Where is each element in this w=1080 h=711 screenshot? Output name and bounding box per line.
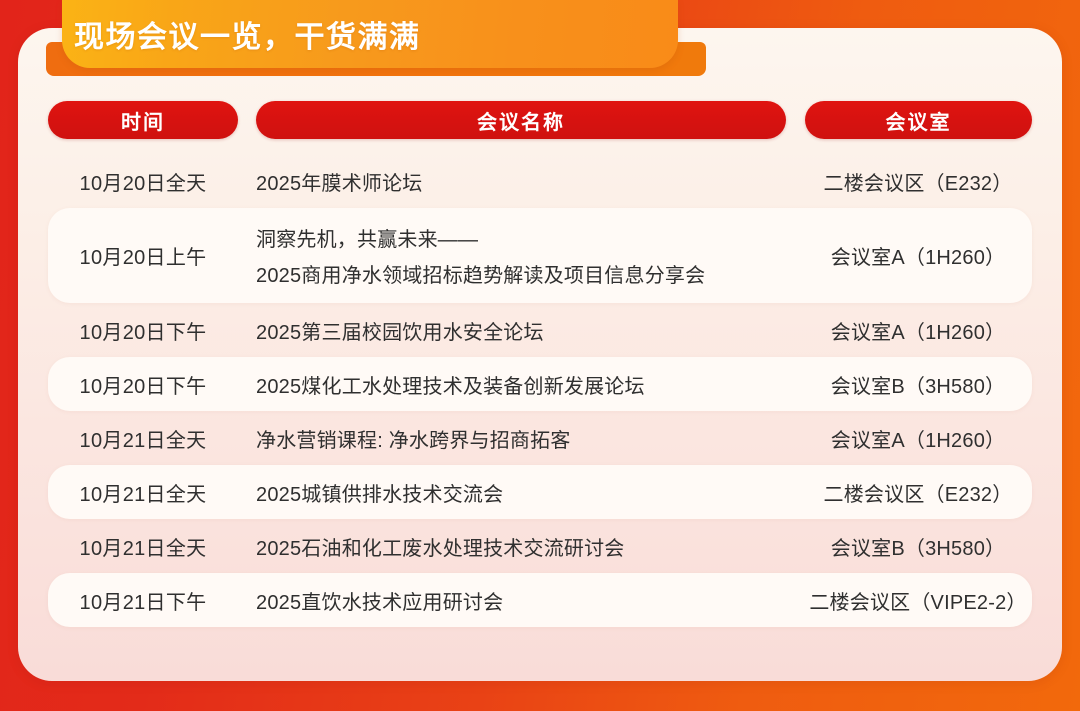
meeting-name-line-1: 2025年膜术师论坛 (256, 167, 804, 196)
cell-room: 二楼会议区（E232） (804, 478, 1032, 507)
column-header-room: 会议室 (805, 101, 1032, 139)
cell-time: 10月20日下午 (48, 316, 238, 345)
table-row: 10月20日上午洞察先机，共赢未来——2025商用净水领域招标趋势解读及项目信息… (48, 208, 1032, 303)
cell-room: 会议室B（3H580） (804, 370, 1032, 399)
table-row: 10月21日全天2025城镇供排水技术交流会二楼会议区（E232） (48, 465, 1032, 519)
cell-time: 10月21日全天 (48, 424, 238, 453)
cell-room: 二楼会议区（VIPE2-2） (804, 586, 1032, 615)
cell-meeting-name: 2025城镇供排水技术交流会 (256, 478, 804, 507)
cell-room: 会议室A（1H260） (804, 316, 1032, 345)
meeting-name-line-1: 2025城镇供排水技术交流会 (256, 478, 804, 507)
meeting-name-line-1: 2025石油和化工废水处理技术交流研讨会 (256, 532, 804, 561)
poster-page: 现场会议一览，干货满满 时间 会议名称 会议室 10月20日全天2025年膜术师… (0, 0, 1080, 711)
meeting-name-line-1: 2025直饮水技术应用研讨会 (256, 586, 804, 615)
schedule-table-body: 10月20日全天2025年膜术师论坛二楼会议区（E232）10月20日上午洞察先… (48, 154, 1032, 627)
table-header-row: 时间 会议名称 会议室 (48, 101, 1032, 139)
cell-meeting-name: 2025第三届校园饮用水安全论坛 (256, 316, 804, 345)
cell-time: 10月20日上午 (48, 241, 238, 270)
meeting-name-line-1: 2025第三届校园饮用水安全论坛 (256, 316, 804, 345)
meeting-name-line-1: 2025煤化工水处理技术及装备创新发展论坛 (256, 370, 804, 399)
table-row: 10月20日全天2025年膜术师论坛二楼会议区（E232） (48, 154, 1032, 208)
cell-room: 会议室B（3H580） (804, 532, 1032, 561)
cell-meeting-name: 2025年膜术师论坛 (256, 167, 804, 196)
cell-time: 10月20日下午 (48, 370, 238, 399)
cell-meeting-name: 2025石油和化工废水处理技术交流研讨会 (256, 532, 804, 561)
table-row: 10月21日全天净水营销课程: 净水跨界与招商拓客会议室A（1H260） (48, 411, 1032, 465)
column-header-name: 会议名称 (256, 101, 786, 139)
cell-room: 会议室A（1H260） (804, 241, 1032, 270)
cell-time: 10月20日全天 (48, 167, 238, 196)
cell-room: 二楼会议区（E232） (804, 167, 1032, 196)
banner-ribbon: 现场会议一览，干货满满 (62, 0, 678, 68)
meeting-name-line-1: 洞察先机，共赢未来—— (256, 223, 804, 252)
cell-meeting-name: 2025煤化工水处理技术及装备创新发展论坛 (256, 370, 804, 399)
table-row: 10月20日下午2025煤化工水处理技术及装备创新发展论坛会议室B（3H580） (48, 357, 1032, 411)
cell-time: 10月21日全天 (48, 478, 238, 507)
meeting-name-line-2: 2025商用净水领域招标趋势解读及项目信息分享会 (256, 259, 804, 288)
cell-time: 10月21日全天 (48, 532, 238, 561)
cell-meeting-name: 洞察先机，共赢未来——2025商用净水领域招标趋势解读及项目信息分享会 (256, 223, 804, 288)
meeting-name-line-1: 净水营销课程: 净水跨界与招商拓客 (256, 424, 804, 453)
cell-meeting-name: 净水营销课程: 净水跨界与招商拓客 (256, 424, 804, 453)
page-title: 现场会议一览，干货满满 (74, 12, 421, 56)
cell-time: 10月21日下午 (48, 586, 238, 615)
table-row: 10月21日下午2025直饮水技术应用研讨会二楼会议区（VIPE2-2） (48, 573, 1032, 627)
column-header-time: 时间 (48, 101, 238, 139)
table-row: 10月21日全天2025石油和化工废水处理技术交流研讨会会议室B（3H580） (48, 519, 1032, 573)
table-row: 10月20日下午2025第三届校园饮用水安全论坛会议室A（1H260） (48, 303, 1032, 357)
cell-meeting-name: 2025直饮水技术应用研讨会 (256, 586, 804, 615)
cell-room: 会议室A（1H260） (804, 424, 1032, 453)
